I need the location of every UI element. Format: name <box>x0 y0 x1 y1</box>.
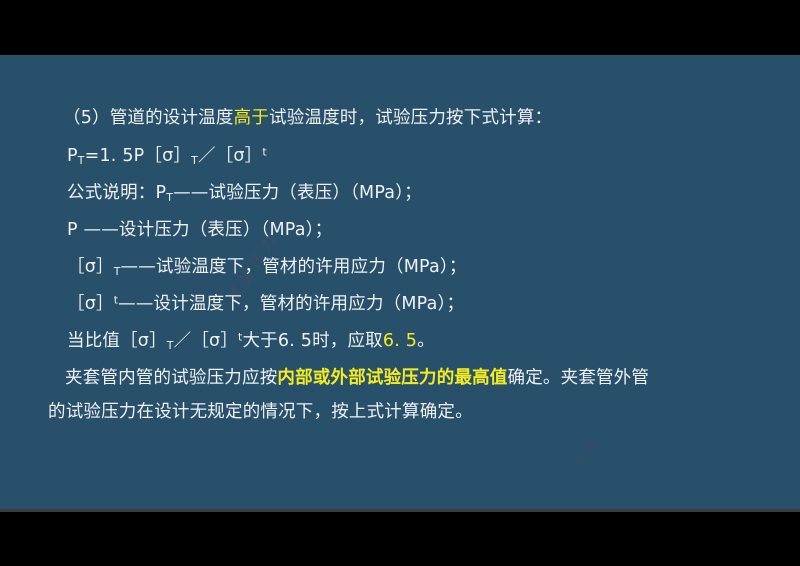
letterbox-top <box>0 0 800 55</box>
slide-canvas: 试验压力 管道 （5）管道的设计温度高于试验温度时，试验压力按下式计算： PT=… <box>0 55 800 510</box>
letterbox-bottom <box>0 512 800 566</box>
line7-highlight-value: 6. 5 <box>383 331 417 351</box>
line3-part-a: 公式说明：P <box>67 183 166 203</box>
text-line-3: 公式说明：PT——试验压力（表压）（MPa）； <box>67 181 422 205</box>
formula-pt-subscript: T <box>78 154 85 167</box>
line6-part-a: ［σ］ <box>67 294 114 314</box>
line7-part-d: 。 <box>417 331 435 351</box>
watermark-overlay-secondary: 管道 <box>570 325 790 510</box>
line1-part-a: （5）管道的设计温度 <box>63 108 234 128</box>
line1-part-b: 试验温度时，试验压力按下式计算： <box>269 108 552 128</box>
line5-part-b: ——试验温度下，管材的许用应力（MPa）； <box>121 257 467 277</box>
text-line-5: ［σ］T——试验温度下，管材的许用应力（MPa）； <box>67 255 467 279</box>
paragraph-line-1: 夹套管内管的试验压力应按内部或外部试验压力的最高值确定。夹套管外管 <box>48 364 649 392</box>
formula-sigma-superscript-t: t <box>262 146 266 159</box>
slide-frame: 试验压力 管道 （5）管道的设计温度高于试验温度时，试验压力按下式计算： PT=… <box>0 0 800 566</box>
formula-body: =1. 5P［σ］ <box>85 146 192 166</box>
paragraph-line-2: 的试验压力在设计无规定的情况下，按上式计算确定。 <box>48 398 473 426</box>
line7-part-a: 当比值［σ］ <box>67 331 167 351</box>
formula-sigma-subscript-T: T <box>191 154 198 167</box>
formula-divider: ／［σ］ <box>198 146 262 166</box>
paragraph-highlight-max-value: 内部或外部试验压力的最高值 <box>277 368 507 388</box>
text-line-1: （5）管道的设计温度高于试验温度时，试验压力按下式计算： <box>63 106 552 130</box>
line5-subscript-T: T <box>114 265 121 278</box>
text-line-7: 当比值［σ］T／［σ］t大于6. 5时，应取6. 5。 <box>67 329 435 353</box>
line5-part-a: ［σ］ <box>67 257 114 277</box>
line7-part-c: 大于6. 5时，应取 <box>242 331 382 351</box>
line7-part-b: ／［σ］ <box>174 331 238 351</box>
paragraph-part-a: 夹套管内管的试验压力应按 <box>65 368 277 388</box>
line7-subscript-T: T <box>167 339 174 352</box>
paragraph-part-b: 确定。夹套管外管 <box>508 368 650 388</box>
line1-highlight-gaoyu: 高于 <box>234 108 269 128</box>
text-line-4: P ——设计压力（表压）（MPa）； <box>67 218 332 242</box>
text-line-2-formula: PT=1. 5P［σ］T／［σ］t <box>67 144 267 168</box>
text-line-6: ［σ］t——设计温度下，管材的许用应力（MPa）； <box>67 292 464 316</box>
line3-part-b: ——试验压力（表压）（MPa）； <box>173 183 422 203</box>
line6-part-b: ——设计温度下，管材的许用应力（MPa）； <box>118 294 464 314</box>
formula-pt-symbol: P <box>67 146 78 166</box>
